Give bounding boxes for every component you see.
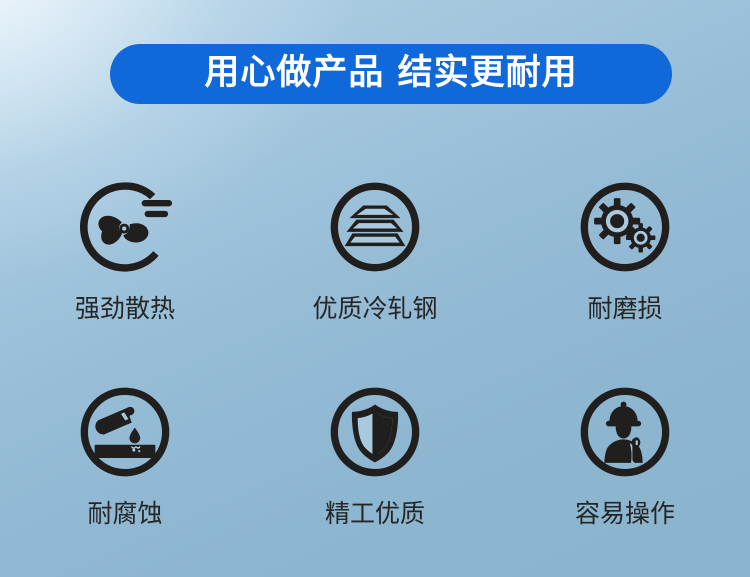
feature-label: 耐腐蚀 [87, 501, 162, 526]
headline-banner: 用心做产品 结实更耐用 [110, 44, 672, 104]
feature-label: 耐磨损 [587, 296, 662, 321]
worker-icon [576, 383, 674, 481]
gears-icon [576, 178, 674, 276]
steel-plates-icon [326, 178, 424, 276]
fan-icon [76, 178, 174, 276]
promo-feature-page: 用心做产品 结实更耐用 [0, 0, 750, 577]
feature-item-corrosion-resistant: 耐腐蚀 [0, 365, 250, 570]
feature-label: 优质冷轧钢 [312, 296, 437, 321]
feature-item-wear-resistant: 耐磨损 [500, 160, 750, 365]
feature-item-easy-operation: 容易操作 [500, 365, 750, 570]
feature-item-strong-cooling: 强劲散热 [0, 160, 250, 365]
feature-label: 强劲散热 [75, 296, 175, 321]
feature-label: 容易操作 [575, 501, 675, 526]
feature-grid: 强劲散热 [0, 160, 750, 570]
shield-icon [326, 383, 424, 481]
headline-banner-text: 用心做产品 结实更耐用 [204, 56, 577, 91]
feature-label: 精工优质 [325, 501, 425, 526]
feature-item-fine-workmanship: 精工优质 [250, 365, 500, 570]
test-tube-icon [76, 383, 174, 481]
feature-item-cold-rolled-steel: 优质冷轧钢 [250, 160, 500, 365]
